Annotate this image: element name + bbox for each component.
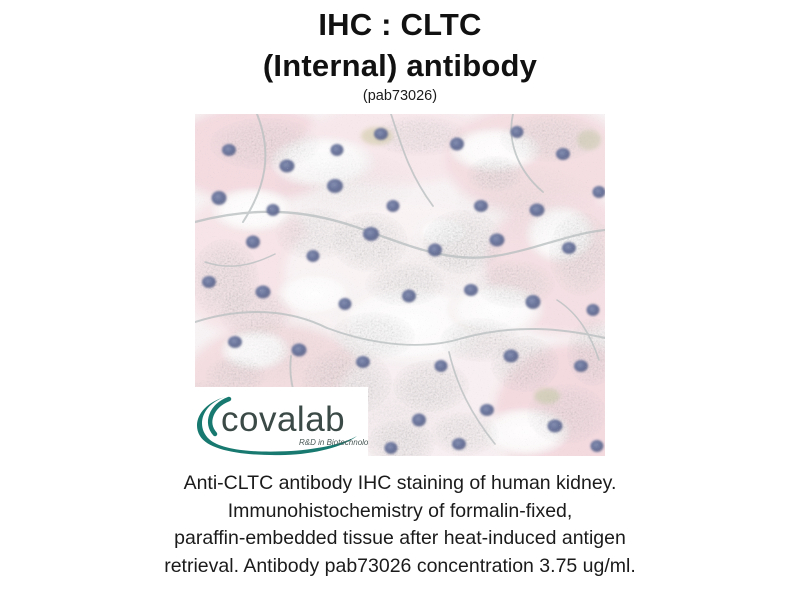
- caption-line-1: Anti-CLTC antibody IHC staining of human…: [100, 470, 700, 498]
- caption-line-4: retrieval. Antibody pab73026 concentrati…: [100, 553, 700, 581]
- logo-tagline: R&D in Biotechnology: [299, 438, 368, 447]
- product-figure-page: IHC : CLTC (Internal) antibody (pab73026…: [0, 0, 800, 600]
- covalab-logo: covalab R&D in Biotechnology: [195, 387, 368, 456]
- figure-caption: Anti-CLTC antibody IHC staining of human…: [100, 470, 700, 581]
- title-line-primary: IHC : CLTC: [0, 4, 800, 45]
- page-title: IHC : CLTC (Internal) antibody (pab73026…: [0, 0, 800, 106]
- ihc-figure: covalab R&D in Biotechnology: [195, 114, 605, 456]
- covalab-logo-graphic: covalab R&D in Biotechnology: [195, 387, 368, 456]
- caption-line-2: Immunohistochemistry of formalin-fixed,: [100, 498, 700, 526]
- title-line-secondary: (Internal) antibody: [0, 45, 800, 86]
- logo-wordmark: covalab: [221, 400, 345, 439]
- caption-line-3: paraffin-embedded tissue after heat-indu…: [100, 525, 700, 553]
- catalog-number: (pab73026): [0, 88, 800, 105]
